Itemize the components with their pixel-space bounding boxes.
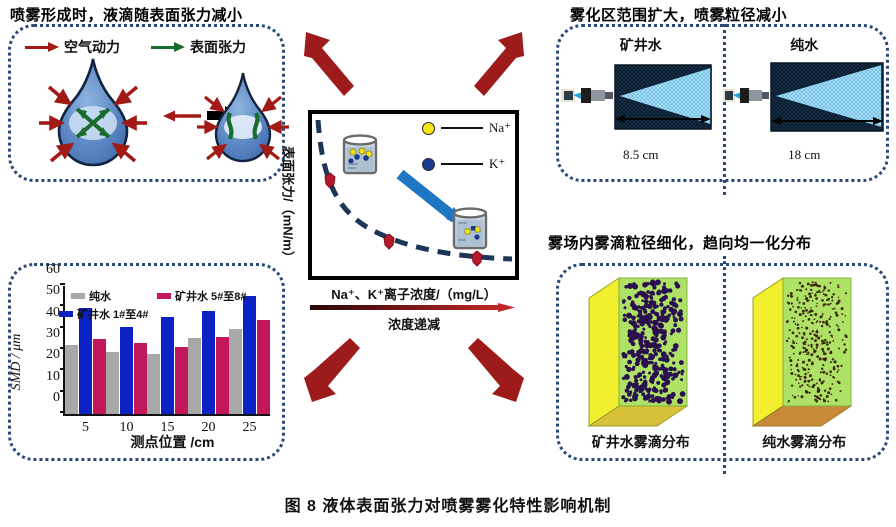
bar-chart-tickmark <box>60 390 65 392</box>
bar-0-20[interactable] <box>188 338 201 414</box>
droplet-box-mine-water: 矿井水雾滴分布 <box>559 266 723 458</box>
na-ion-icon <box>422 122 435 135</box>
bar-group: 20 <box>188 286 229 414</box>
bar-legend-mine-14: 矿井水 1#至4# <box>59 306 149 322</box>
flow-arrow-upright <box>468 28 528 98</box>
legend-line-na <box>441 127 483 129</box>
center-legend-k-label: K⁺ <box>489 156 505 172</box>
bar-1-15[interactable] <box>161 317 174 414</box>
beaker-low-concentration <box>446 202 494 259</box>
bar-chart-ylabel: SMD / μm <box>9 334 25 391</box>
droplet-box-pure-water: 纯水雾滴分布 <box>723 266 887 458</box>
bar-chart-ytick: 30 <box>46 326 65 342</box>
spray-mine-water-dimension: 8.5 cm <box>559 147 723 163</box>
center-legend-k: K⁺ <box>422 156 505 172</box>
spray-pure-water-dimension: 18 cm <box>723 147 887 163</box>
flow-arrow-downleft <box>300 336 360 406</box>
bar-1-10[interactable] <box>120 327 133 414</box>
green-arrow-icon <box>151 42 185 52</box>
center-legend-na: Na⁺ <box>422 120 511 136</box>
droplet-box-pure-water-figure <box>751 276 861 428</box>
bar-1-25[interactable] <box>243 296 256 414</box>
legend-swatch-mine-14 <box>59 311 73 317</box>
bar-chart-tickmark <box>60 411 65 413</box>
contraction-arrow-icon <box>161 109 201 123</box>
center-chart-xlabel: Na⁺、K⁺离子浓度/（mg/L） <box>300 284 528 303</box>
center-chart-xsublabel: 浓度递减 <box>300 314 528 333</box>
spray-panel-title: 雾化区范围扩大，喷雾粒径减小 <box>570 4 787 25</box>
smd-bar-chart: SMD / μm 510152025 0102030405060 测点位置 /c… <box>11 266 282 458</box>
flow-arrow-upleft <box>300 28 360 98</box>
bar-0-10[interactable] <box>106 352 119 414</box>
bar-chart-tickmark <box>60 347 65 349</box>
bar-legend-mine-14-label: 矿井水 1#至4# <box>77 306 149 322</box>
spray-panel: 矿井水 <box>556 24 889 182</box>
bar-chart-tickmark <box>60 326 65 328</box>
spray-pure-water-label: 纯水 <box>723 35 887 55</box>
legend-air-force-label: 空气动力 <box>64 37 120 57</box>
bar-0-25[interactable] <box>229 329 242 414</box>
bar-chart-ytick: 10 <box>46 369 65 385</box>
droplet-box-mine-water-label: 矿井水雾滴分布 <box>559 432 723 452</box>
center-legend-na-label: Na⁺ <box>489 120 511 136</box>
figure-root: 喷雾形成时，液滴随表面张力减小 空气动力 表面张力 <box>0 0 896 527</box>
bar-2-5[interactable] <box>93 339 106 414</box>
bar-2-15[interactable] <box>175 347 188 414</box>
bar-chart-tickmark <box>60 283 65 285</box>
bar-1-20[interactable] <box>202 311 215 414</box>
bar-group: 25 <box>229 286 270 414</box>
droplet-large <box>39 57 147 169</box>
droplet-panel-title: 喷雾形成时，液滴随表面张力减小 <box>10 4 243 25</box>
bar-chart-ytick: 20 <box>46 347 65 363</box>
spray-mine-water: 矿井水 <box>559 27 723 179</box>
box3d-panel-title: 雾场内雾滴粒径细化，趋向均一化分布 <box>548 232 812 253</box>
smd-bar-chart-panel: SMD / μm 510152025 0102030405060 测点位置 /c… <box>8 263 285 461</box>
legend-surface-tension: 表面张力 <box>151 37 246 57</box>
bar-0-15[interactable] <box>147 354 160 414</box>
bar-legend-mine-58: 矿井水 5#至8# <box>157 288 247 304</box>
legend-surface-tension-label: 表面张力 <box>190 37 246 57</box>
bar-chart-ytick: 0 <box>53 390 65 406</box>
nozzle-icon <box>561 88 613 103</box>
bar-legend-pure-water: 纯水 <box>71 288 111 304</box>
spray-mine-water-label: 矿井水 <box>559 35 723 55</box>
concentration-gradient-arrow-icon <box>310 303 515 312</box>
bar-chart-ytick: 50 <box>46 283 65 299</box>
legend-line-k <box>441 163 483 165</box>
droplet-box-pure-water-label: 纯水雾滴分布 <box>723 432 887 452</box>
k-ion-icon <box>422 158 435 171</box>
bar-legend-mine-58-label: 矿井水 5#至8# <box>175 288 247 304</box>
spray-cone-mine-water <box>561 59 721 135</box>
bar-chart-ytick: 60 <box>46 262 65 278</box>
surface-tension-chart: Na⁺ K⁺ <box>308 110 519 280</box>
spray-pure-water: 纯水 18 cm <box>723 27 887 179</box>
bar-chart-xlabel: 测点位置 /cm <box>63 432 282 452</box>
bar-0-5[interactable] <box>65 345 78 414</box>
bar-legend-pure-water-label: 纯水 <box>89 288 111 304</box>
spray-cone-pure-water <box>723 59 887 135</box>
droplet-panel: 空气动力 表面张力 <box>8 24 285 182</box>
center-chart-ylabel: 表面张力/（mN/m） <box>280 146 299 264</box>
droplet-distribution-panel: 矿井水雾滴分布 纯水雾滴分布 <box>556 263 889 461</box>
red-arrow-icon <box>25 42 59 52</box>
bar-1-5[interactable] <box>79 308 92 414</box>
bar-group: 15 <box>147 286 188 414</box>
flow-arrow-downright <box>468 336 528 406</box>
beaker-high-concentration <box>336 130 384 183</box>
droplet-small <box>197 69 289 167</box>
legend-swatch-pure-water <box>71 293 85 299</box>
bar-2-10[interactable] <box>134 343 147 414</box>
bar-chart-tickmark <box>60 368 65 370</box>
bar-2-25[interactable] <box>257 320 270 414</box>
legend-swatch-mine-58 <box>157 293 171 299</box>
droplet-box-mine-water-figure <box>587 276 697 428</box>
legend-air-force: 空气动力 <box>25 37 120 57</box>
bar-2-20[interactable] <box>216 337 229 414</box>
figure-caption: 图 8 液体表面张力对喷雾雾化特性影响机制 <box>0 492 896 516</box>
